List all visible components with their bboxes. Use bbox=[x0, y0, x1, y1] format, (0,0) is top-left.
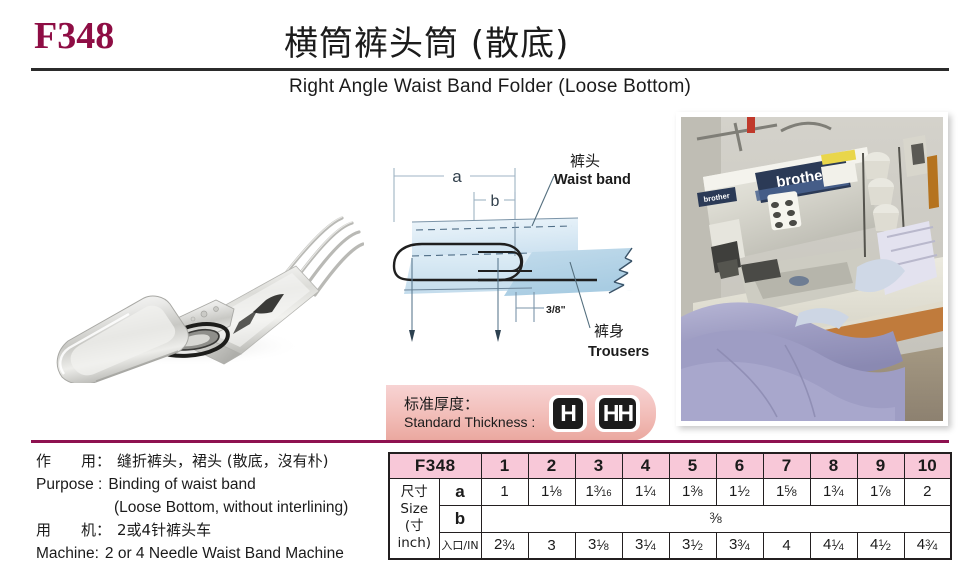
machine-row-cn: 用 机： 2或4针裤头车 bbox=[36, 519, 386, 542]
table-col-2: 2 bbox=[528, 453, 575, 478]
cell-a-10: 2 bbox=[904, 478, 951, 505]
cell-in-7: 4 bbox=[763, 532, 810, 559]
folder-attachment-photo bbox=[34, 178, 364, 383]
label-trousers-en: Trousers bbox=[588, 344, 649, 360]
model-code: F348 bbox=[34, 14, 114, 58]
purpose-value-cn: 缝折裤头，裙头 (散底，沒有朴) bbox=[117, 450, 328, 473]
thickness-label-en: Standard Thickness : bbox=[404, 414, 535, 430]
size-label-line-3: (寸inch) bbox=[390, 518, 439, 552]
cell-in-3: 31⁄8 bbox=[575, 532, 622, 559]
thickness-chip-hh: HH bbox=[595, 395, 640, 432]
label-trousers-cn: 裤身 bbox=[594, 322, 624, 340]
table-row-in: 入口/IN 23⁄4 3 31⁄8 31⁄4 31⁄2 33⁄4 4 41⁄4 … bbox=[389, 532, 951, 559]
cell-in-5: 31⁄2 bbox=[669, 532, 716, 559]
table-col-10: 10 bbox=[904, 453, 951, 478]
machine-label-cn: 用 机： bbox=[36, 519, 111, 542]
cell-a-1: 1 bbox=[481, 478, 528, 505]
machine-value-en: 2 or 4 Needle Waist Band Machine bbox=[105, 542, 344, 565]
cell-a-8: 13⁄4 bbox=[810, 478, 857, 505]
cell-in-6: 33⁄4 bbox=[716, 532, 763, 559]
cell-a-9: 17⁄8 bbox=[857, 478, 904, 505]
dimension-label-b: b bbox=[491, 193, 500, 210]
table-row-b: b 3⁄8 bbox=[389, 505, 951, 532]
table-col-5: 5 bbox=[669, 453, 716, 478]
purpose-row-en: Purpose : Binding of waist band bbox=[36, 473, 386, 496]
cell-in-2: 3 bbox=[528, 532, 575, 559]
table-row-a: 尺寸 Size (寸inch) a 1 11⁄8 13⁄16 11⁄4 13⁄8… bbox=[389, 478, 951, 505]
purpose-value-en-2: (Loose Bottom, without interlining) bbox=[114, 496, 348, 519]
thickness-labels: 标准厚度： Standard Thickness : bbox=[404, 396, 535, 429]
product-spec-sheet: F348 横筒裤头筒 (散底) Right Angle Waist Band F… bbox=[0, 0, 980, 572]
cell-a-5: 13⁄8 bbox=[669, 478, 716, 505]
cell-in-10: 43⁄4 bbox=[904, 532, 951, 559]
table-model-cell: F348 bbox=[389, 453, 481, 478]
dimension-label-a: a bbox=[452, 167, 462, 186]
purpose-value-en: Binding of waist band bbox=[108, 473, 255, 496]
label-waistband-cn: 裤头 bbox=[570, 152, 600, 170]
table-col-9: 9 bbox=[857, 453, 904, 478]
specification-table: F348 1 2 3 4 5 6 7 8 9 10 尺寸 Size (寸inch… bbox=[388, 452, 952, 560]
purpose-label-cn: 作 用： bbox=[36, 450, 111, 473]
table-col-1: 1 bbox=[481, 453, 528, 478]
thickness-label-cn: 标准厚度： bbox=[404, 396, 535, 413]
cell-in-4: 31⁄4 bbox=[622, 532, 669, 559]
purpose-row-cn: 作 用： 缝折裤头，裙头 (散底，沒有朴) bbox=[36, 450, 386, 473]
purpose-label-en: Purpose : bbox=[36, 473, 102, 496]
thickness-chip-hh-label: HH bbox=[599, 398, 636, 429]
row-key-a: a bbox=[439, 478, 481, 505]
row-key-b: b bbox=[439, 505, 481, 532]
table-col-6: 6 bbox=[716, 453, 763, 478]
machine-photo: brother brother bbox=[681, 117, 943, 421]
table-col-4: 4 bbox=[622, 453, 669, 478]
page-title-chinese: 横筒裤头筒 (散底) bbox=[284, 16, 569, 65]
cell-a-3: 13⁄16 bbox=[575, 478, 622, 505]
machine-value-cn: 2或4针裤头车 bbox=[117, 519, 211, 542]
header-divider bbox=[31, 68, 949, 71]
section-divider bbox=[31, 440, 949, 443]
table-header-row: F348 1 2 3 4 5 6 7 8 9 10 bbox=[389, 453, 951, 478]
product-info-block: 作 用： 缝折裤头，裙头 (散底，沒有朴) Purpose : Binding … bbox=[36, 450, 386, 565]
machine-label-en: Machine: bbox=[36, 542, 99, 565]
thickness-chips: H HH bbox=[549, 395, 640, 432]
table-col-7: 7 bbox=[763, 453, 810, 478]
size-label-line-2: Size bbox=[390, 501, 439, 518]
machine-row-en: Machine: 2 or 4 Needle Waist Band Machin… bbox=[36, 542, 386, 565]
cell-a-4: 11⁄4 bbox=[622, 478, 669, 505]
table-size-label: 尺寸 Size (寸inch) bbox=[389, 478, 439, 559]
cell-a-7: 15⁄8 bbox=[763, 478, 810, 505]
purpose-row-en-2: (Loose Bottom, without interlining) bbox=[36, 496, 386, 519]
standard-thickness-badge: 标准厚度： Standard Thickness : H HH bbox=[386, 385, 656, 441]
cell-a-2: 11⁄8 bbox=[528, 478, 575, 505]
cell-b-all: 3⁄8 bbox=[481, 505, 951, 532]
label-waistband-en: Waist band bbox=[554, 172, 631, 188]
cell-a-6: 11⁄2 bbox=[716, 478, 763, 505]
table-col-8: 8 bbox=[810, 453, 857, 478]
machine-photo-frame: brother brother bbox=[676, 112, 948, 426]
seam-allowance-label: 3/8" bbox=[546, 304, 566, 316]
table-col-3: 3 bbox=[575, 453, 622, 478]
size-label-line-1: 尺寸 bbox=[390, 484, 439, 501]
cell-in-8: 41⁄4 bbox=[810, 532, 857, 559]
thickness-chip-h-label: H bbox=[553, 398, 583, 429]
row-key-in: 入口/IN bbox=[439, 532, 481, 559]
cell-in-9: 41⁄2 bbox=[857, 532, 904, 559]
page-title-english: Right Angle Waist Band Folder (Loose Bot… bbox=[0, 76, 980, 98]
thickness-chip-h: H bbox=[549, 395, 587, 432]
technical-diagram: a b bbox=[382, 140, 682, 380]
cell-in-1: 23⁄4 bbox=[481, 532, 528, 559]
